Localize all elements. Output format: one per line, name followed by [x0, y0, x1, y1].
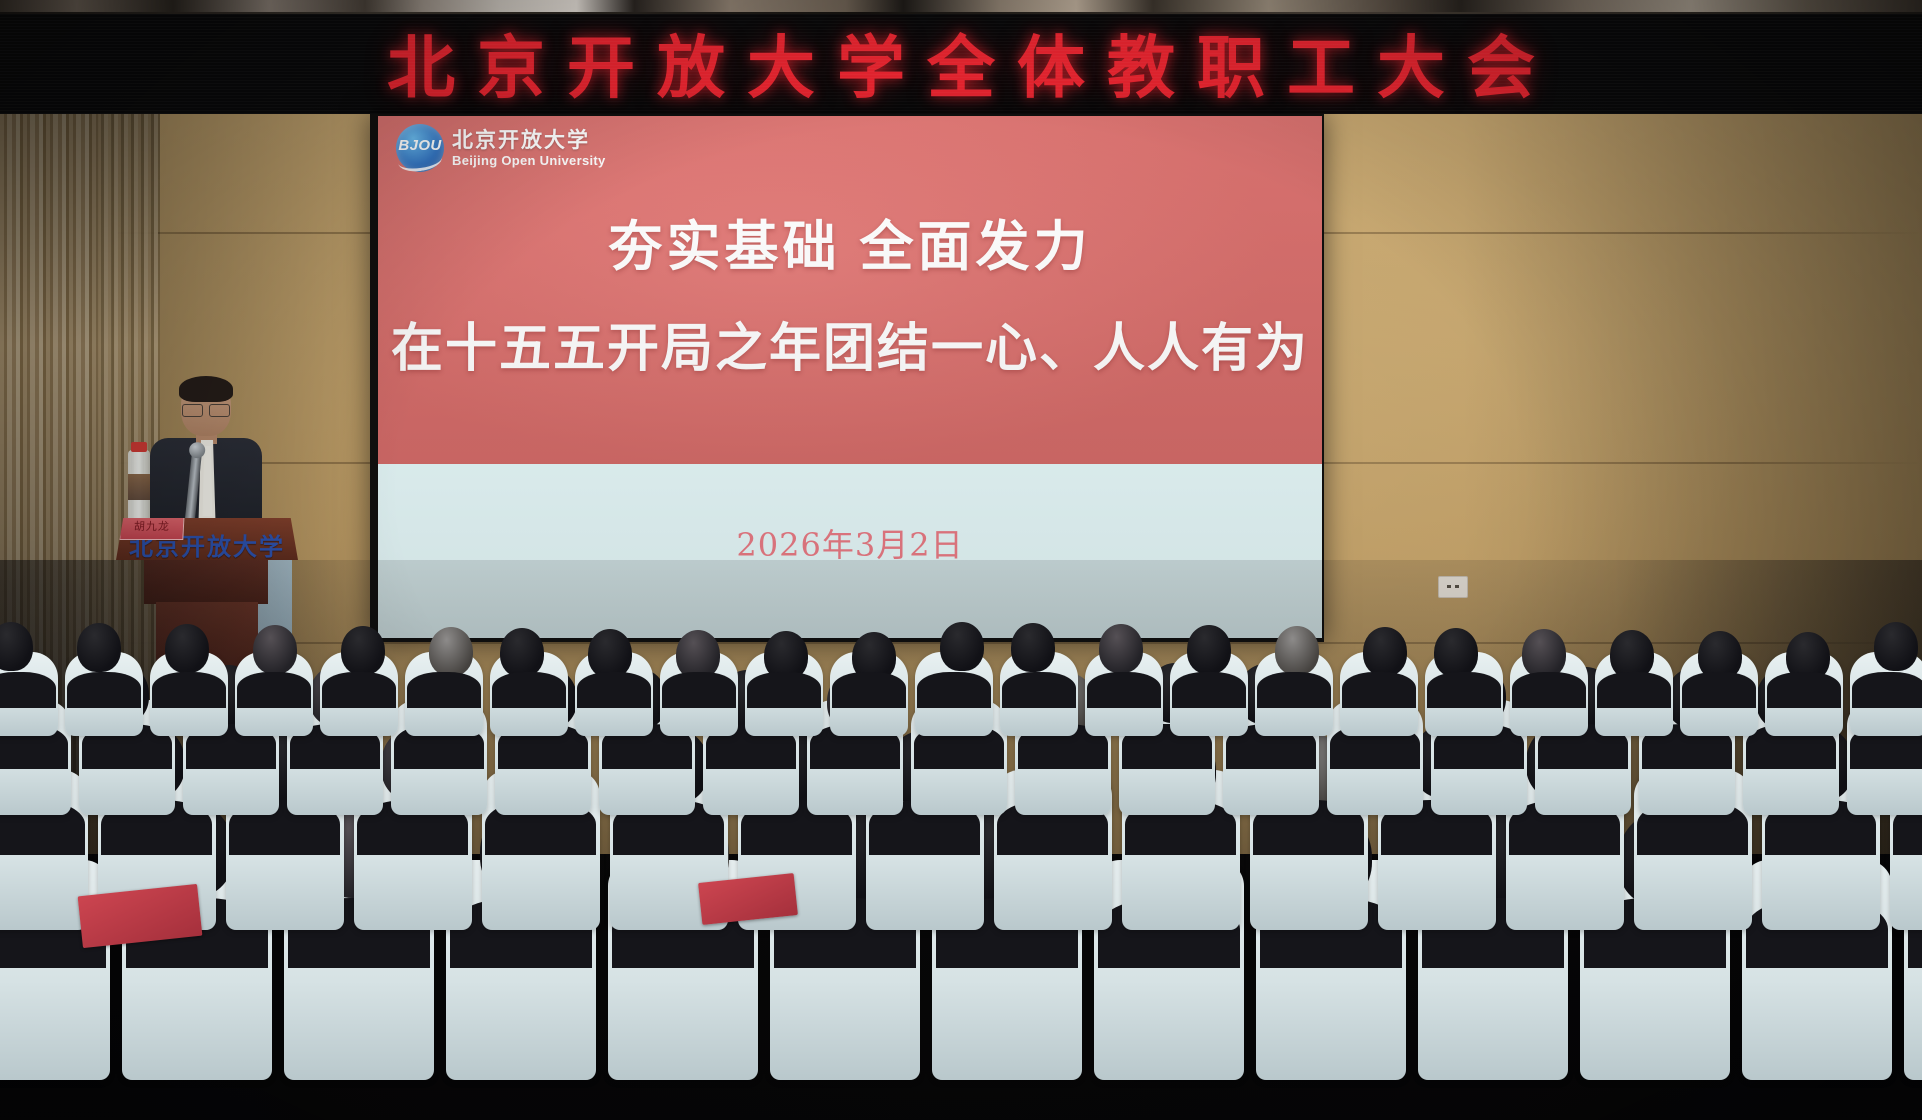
audience-head	[77, 623, 121, 672]
audience-shoulders	[67, 672, 140, 709]
audience-shoulders	[1427, 672, 1500, 709]
audience-shoulders	[917, 672, 990, 709]
audience-shoulders	[1342, 672, 1415, 709]
audience-head	[1275, 626, 1319, 675]
audience-head	[1187, 625, 1231, 674]
audience-shoulders	[662, 672, 735, 709]
audience-shoulders	[832, 672, 905, 709]
banner-title: 北京开放大学全体教职工大会	[0, 14, 1922, 112]
glasses-icon	[181, 404, 231, 415]
audience-shoulders	[237, 672, 310, 709]
audience-shoulders	[747, 672, 820, 709]
audience-head	[429, 627, 473, 676]
audience-area: 行大会学宁竹会行学行大会学宁竹	[0, 560, 1922, 1120]
audience-shoulders	[1767, 672, 1840, 709]
audience-head	[1434, 628, 1478, 677]
audience-shoulders	[152, 672, 225, 709]
audience-head	[1011, 623, 1055, 672]
podium-top: 北京开放大学 胡九龙	[116, 518, 298, 560]
water-bottle	[128, 450, 150, 526]
audience-shoulders	[1002, 672, 1075, 709]
audience-head	[500, 628, 544, 677]
audience-shoulders	[407, 672, 480, 709]
nameplate-text: 胡九龙	[121, 518, 184, 534]
slide-logo: BJOU 北京开放大学 Beijing Open University	[396, 124, 606, 172]
led-banner: 北京开放大学全体教职工大会	[0, 14, 1922, 114]
bjou-logo-icon: BJOU	[396, 124, 444, 172]
audience-head	[165, 624, 209, 673]
audience-head	[341, 626, 385, 675]
audience-shoulders	[492, 672, 565, 709]
conference-hall-photo: 北京开放大学全体教职工大会 BJOU 北京开放大学 Beijing Open U…	[0, 0, 1922, 1120]
speaker-hair	[179, 376, 233, 402]
university-name-cn: 北京开放大学	[452, 129, 606, 150]
bottle-cap	[131, 442, 147, 452]
audience-head	[1363, 627, 1407, 676]
audience-shoulders	[1172, 672, 1245, 709]
audience-shoulders	[0, 672, 56, 709]
audience-shoulders	[1257, 672, 1330, 709]
audience-shoulders	[1512, 672, 1585, 709]
audience-shoulders	[577, 672, 650, 709]
audience-head	[0, 622, 33, 671]
swoosh-icon	[397, 147, 443, 174]
slide-title: 夯实基础 全面发力	[378, 202, 1322, 281]
slide-subtitle: 在十五五开局之年团结一心、人人有为	[378, 306, 1322, 381]
university-name-en: Beijing Open University	[452, 153, 606, 168]
audience-shoulders	[1597, 672, 1670, 709]
audience-shoulders	[1087, 672, 1160, 709]
audience-head	[588, 629, 632, 678]
audience-head	[253, 625, 297, 674]
audience-head	[1874, 622, 1918, 671]
audience-shoulders	[322, 672, 395, 709]
audience-head	[940, 622, 984, 671]
audience-head	[1522, 629, 1566, 678]
audience-shoulders	[1852, 672, 1922, 709]
bottle-label	[128, 474, 150, 500]
audience-head	[1099, 624, 1143, 673]
audience-shoulders	[1682, 672, 1755, 709]
